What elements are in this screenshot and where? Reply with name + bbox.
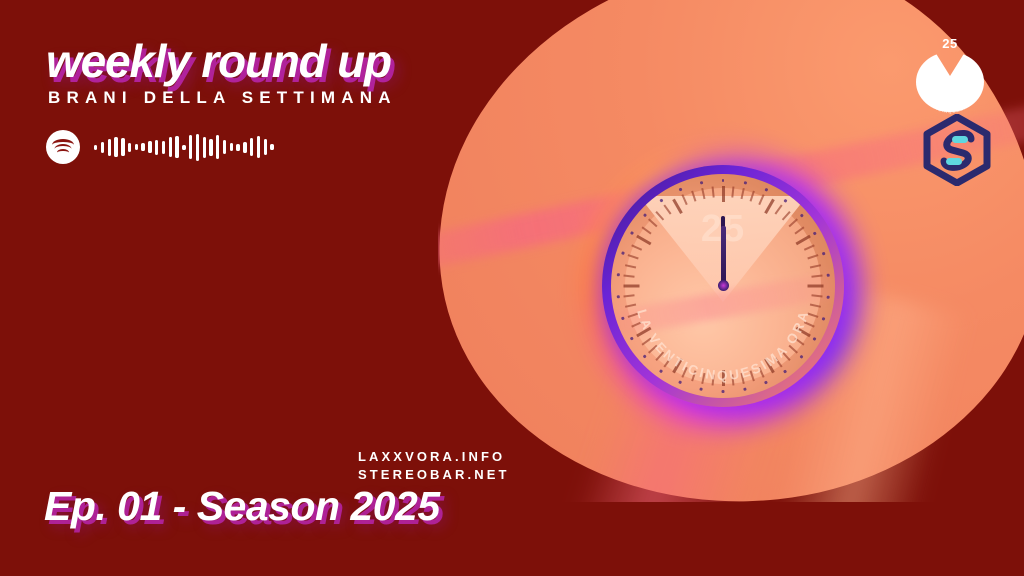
logo-curved-text: LA VENTICINQUESIMA ORA [913,50,987,116]
site-urls[interactable]: LAXXVORA.INFO STEREOBAR.NET [358,448,510,484]
spotify-code-bar [175,136,178,158]
clock-center-pin [718,280,729,291]
clock-face: 25 LA VENTICINQUESIMA ORA [611,174,835,398]
url-line-1[interactable]: LAXXVORA.INFO [358,448,510,466]
spotify-code-bar [94,145,97,150]
svg-text:LA VENTICINQUESIMA ORA: LA VENTICINQUESIMA ORA [918,88,982,115]
spotify-icon[interactable] [46,130,80,164]
spotify-code-bar [264,139,267,155]
la-venticinquesima-ora-logo[interactable]: 25 LA VENTICINQUESIMA ORA [913,38,987,112]
spotify-code-bar [223,140,226,154]
svg-text:LA VENTICINQUESIMA ORA: LA VENTICINQUESIMA ORA [634,308,812,384]
spotify-code-bar [101,142,104,153]
spotify-code-bar [148,141,151,153]
spotify-code-bar [114,137,117,157]
spotify-code-bar [209,139,212,156]
spotify-code-bar [141,143,144,151]
stereobar-hex-s-logo[interactable] [921,114,993,186]
spotify-code-bar [203,137,206,158]
url-line-2[interactable]: STEREOBAR.NET [358,466,510,484]
episode-label: Ep. 01 - Season 2025 [44,483,440,530]
spotify-code-bar [230,143,233,151]
spotify-code-bar [135,144,138,150]
spotify-code-bar [250,138,253,156]
spotify-code-bar [155,140,158,155]
spotify-code-bar [216,135,219,159]
logo-number-25: 25 [913,36,987,51]
spotify-code-bar [162,141,165,154]
page-title: weekly round up [46,34,391,88]
clock-hour-hand [721,226,726,286]
spotify-code-bars[interactable] [94,130,274,164]
spotify-code-bar [257,136,260,158]
hex-cyan-dash-top [952,136,968,143]
wall-clock: 25 LA VENTICINQUESIMA ORA [600,163,846,409]
spotify-code-bar [121,138,124,156]
spotify-code-bar [128,143,131,152]
spotify-code-bar [196,134,199,161]
spotify-code-bar [243,142,246,153]
spotify-code-bar [189,135,192,159]
spotify-code-bar [108,139,111,156]
spotify-scan-row[interactable] [46,130,274,164]
page-subtitle: BRANI DELLA SETTIMANA [48,88,397,108]
spotify-code-bar [169,137,172,157]
poster-canvas: 25 LA VENTICINQUESIMA ORA weekly round u… [0,0,1024,576]
hex-cyan-dash-bottom [946,158,962,165]
spotify-code-bar [236,144,239,151]
spotify-code-bar [182,145,185,150]
spotify-code-bar [270,144,273,150]
